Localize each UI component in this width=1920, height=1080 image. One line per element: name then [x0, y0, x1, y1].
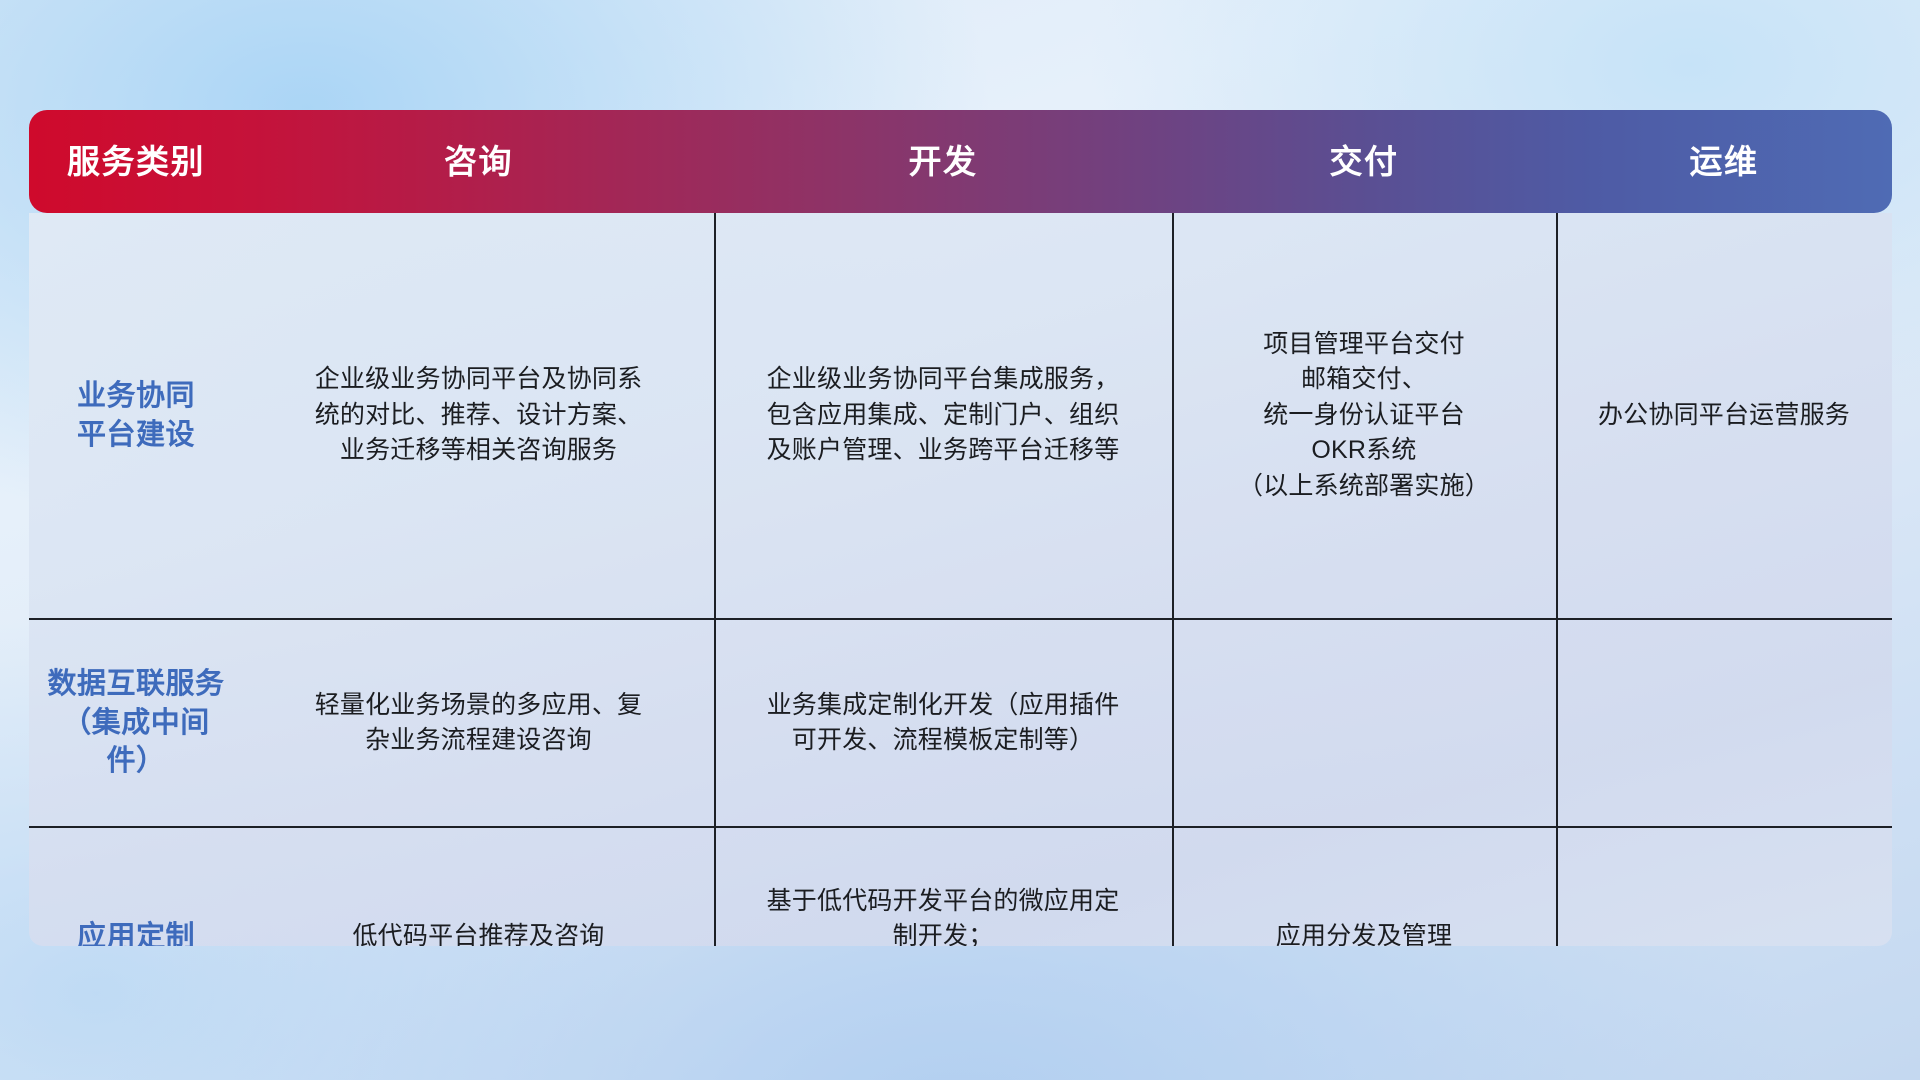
slide-background: 服务类别 咨询 开发 交付 运维 业务协同 平台建设 [0, 0, 1920, 1080]
cell-line: 统的对比、推荐、设计方案、 [315, 398, 643, 434]
cell-text: 业务集成定制化开发（应用插件 可开发、流程模板定制等） [767, 688, 1120, 759]
cell-consulting: 轻量化业务场景的多应用、复 杂业务流程建设咨询 [243, 620, 714, 826]
cell-delivery [1172, 620, 1556, 826]
column-header-delivery: 交付 [1172, 145, 1556, 178]
row-label-text: 应用定制 [77, 918, 195, 946]
cell-line: 企业级业务协同平台及协同系 [315, 362, 643, 398]
service-matrix-table: 服务类别 咨询 开发 交付 运维 业务协同 平台建设 [29, 110, 1892, 946]
cell-development: 业务集成定制化开发（应用插件 可开发、流程模板定制等） [714, 620, 1172, 826]
table-header-row: 服务类别 咨询 开发 交付 运维 [29, 110, 1892, 213]
cell-operations: 办公协同平台运营服务 [1556, 213, 1892, 618]
table-body: 业务协同 平台建设 企业级业务协同平台及协同系 统的对比、推荐、设计方案、 业务… [29, 213, 1892, 946]
cell-line: 低代码平台推荐及咨询 [352, 919, 604, 946]
cell-line: 项目管理平台交付 [1238, 327, 1490, 363]
cell-line: 制开发； [767, 919, 1120, 946]
cell-line: 及账户管理、业务跨平台迁移等 [767, 433, 1120, 469]
row-label-cell: 应用定制 [29, 828, 243, 946]
cell-line: 统一身份认证平台 [1238, 398, 1490, 434]
cell-line: 轻量化业务场景的多应用、复 [315, 688, 643, 724]
cell-line: 企业级业务协同平台集成服务， [767, 362, 1120, 398]
row-label-text: 数据互联服务 （集成中间件） [43, 665, 229, 782]
row-label-cell: 数据互联服务 （集成中间件） [29, 620, 243, 826]
row-label-line: 平台建设 [77, 416, 195, 455]
cell-line: 业务集成定制化开发（应用插件 [767, 688, 1120, 724]
row-label-line: （集成中间件） [43, 704, 229, 782]
cell-line: （以上系统部署实施） [1238, 469, 1490, 505]
cell-line: 可开发、流程模板定制等） [767, 723, 1120, 759]
cell-line: 杂业务流程建设咨询 [315, 723, 643, 759]
row-label-text: 业务协同 平台建设 [77, 377, 195, 455]
cell-development: 基于低代码开发平台的微应用定 制开发； 基于通过语言的微应用定制开发 [714, 828, 1172, 946]
column-header-development: 开发 [714, 145, 1172, 178]
cell-development: 企业级业务协同平台集成服务， 包含应用集成、定制门户、组织 及账户管理、业务跨平… [714, 213, 1172, 618]
cell-line: 应用分发及管理 [1276, 919, 1452, 946]
table-row: 业务协同 平台建设 企业级业务协同平台及协同系 统的对比、推荐、设计方案、 业务… [29, 213, 1892, 618]
cell-line: OKR系统 [1238, 433, 1490, 469]
cell-consulting: 低代码平台推荐及咨询 [243, 828, 714, 946]
cell-text: 办公协同平台运营服务 [1598, 398, 1850, 434]
cell-delivery: 项目管理平台交付 邮箱交付、 统一身份认证平台 OKR系统 （以上系统部署实施） [1172, 213, 1556, 618]
cell-text: 轻量化业务场景的多应用、复 杂业务流程建设咨询 [315, 688, 643, 759]
cell-line: 邮箱交付、 [1238, 362, 1490, 398]
row-label-line: 应用定制 [77, 918, 195, 946]
column-header-consulting: 咨询 [243, 145, 714, 178]
cell-text: 企业级业务协同平台及协同系 统的对比、推荐、设计方案、 业务迁移等相关咨询服务 [315, 362, 643, 469]
cell-text: 应用分发及管理 [1276, 919, 1452, 946]
cell-line: 包含应用集成、定制门户、组织 [767, 398, 1120, 434]
cell-delivery: 应用分发及管理 [1172, 828, 1556, 946]
cell-line: 基于低代码开发平台的微应用定 [767, 884, 1120, 920]
cell-text: 企业级业务协同平台集成服务， 包含应用集成、定制门户、组织 及账户管理、业务跨平… [767, 362, 1120, 469]
cell-text: 基于低代码开发平台的微应用定 制开发； 基于通过语言的微应用定制开发 [767, 884, 1120, 946]
column-header-category: 服务类别 [29, 145, 243, 178]
row-label-cell: 业务协同 平台建设 [29, 213, 243, 618]
row-label-line: 数据互联服务 [43, 665, 229, 704]
row-label-line: 业务协同 [77, 377, 195, 416]
table-row: 应用定制 低代码平台推荐及咨询 基于低代码开发平台的微应用定 制开发； 基于通过… [29, 828, 1892, 946]
cell-consulting: 企业级业务协同平台及协同系 统的对比、推荐、设计方案、 业务迁移等相关咨询服务 [243, 213, 714, 618]
cell-text: 项目管理平台交付 邮箱交付、 统一身份认证平台 OKR系统 （以上系统部署实施） [1238, 327, 1490, 505]
column-header-operations: 运维 [1556, 145, 1892, 178]
cell-operations [1556, 828, 1892, 946]
cell-operations [1556, 620, 1892, 826]
table-row: 数据互联服务 （集成中间件） 轻量化业务场景的多应用、复 杂业务流程建设咨询 业… [29, 620, 1892, 826]
cell-text: 低代码平台推荐及咨询 [352, 919, 604, 946]
cell-line: 业务迁移等相关咨询服务 [315, 433, 643, 469]
cell-line: 办公协同平台运营服务 [1598, 398, 1850, 434]
